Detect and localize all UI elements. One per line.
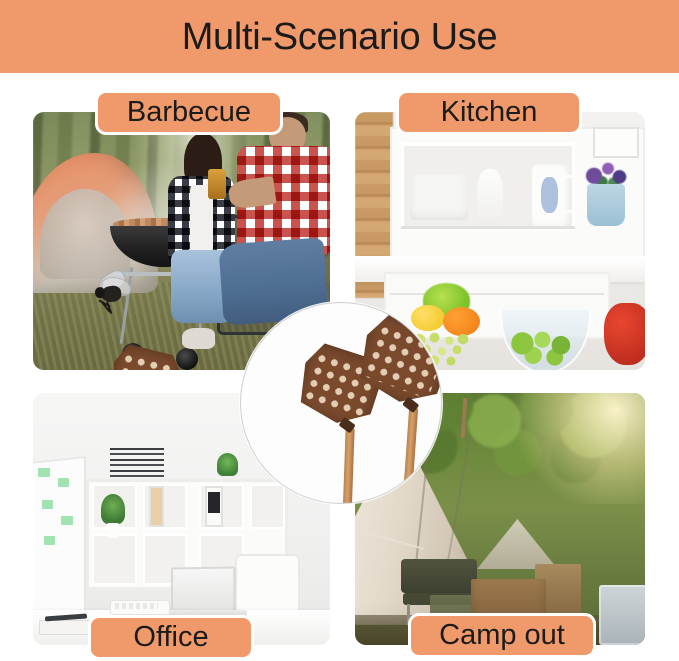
keyboard: [110, 600, 169, 615]
sticky-notes: [33, 464, 86, 565]
label-badge-barbecue: Barbecue: [95, 90, 283, 135]
badge-text: Office: [133, 623, 208, 652]
badge-text: Camp out: [439, 621, 565, 650]
binder: [149, 486, 164, 526]
page-title: Multi-Scenario Use: [182, 18, 498, 56]
clipboard: [39, 620, 92, 635]
red-bell-pepper: [604, 303, 645, 365]
badge-text: Kitchen: [441, 98, 538, 127]
potted-plant: [101, 494, 125, 524]
jug-decoration: [541, 177, 558, 213]
salad: [507, 325, 584, 370]
swatter-perforations: [360, 320, 442, 399]
shelf-cell: [92, 534, 137, 584]
label-badge-office: Office: [88, 615, 254, 660]
bottle: [477, 169, 503, 226]
laptop-screen: [171, 566, 236, 612]
salad-bowl: [500, 308, 591, 370]
label-badge-kitchen: Kitchen: [396, 90, 582, 135]
shelf-edge: [401, 226, 575, 229]
wall-frame: [593, 127, 639, 158]
toaster: [410, 174, 468, 220]
small-plant: [217, 453, 238, 476]
swatter-handle: [402, 407, 419, 504]
chair-back: [401, 559, 476, 593]
beer-bottle: [208, 169, 226, 199]
infographic-page: Multi-Scenario Use: [0, 0, 679, 661]
sneaker: [182, 328, 214, 350]
binder: [205, 486, 223, 526]
product-closeup-circle: [240, 302, 442, 504]
badge-text: Barbecue: [127, 98, 251, 127]
label-badge-campout: Camp out: [408, 613, 596, 658]
flower-pot: [587, 184, 625, 225]
document-trays: [110, 448, 163, 478]
fly-icon: [86, 270, 136, 315]
sun-flare: [506, 393, 645, 504]
header-banner: Multi-Scenario Use: [0, 0, 679, 73]
fly-legs: [97, 295, 127, 313]
cooler-box: [599, 585, 645, 645]
